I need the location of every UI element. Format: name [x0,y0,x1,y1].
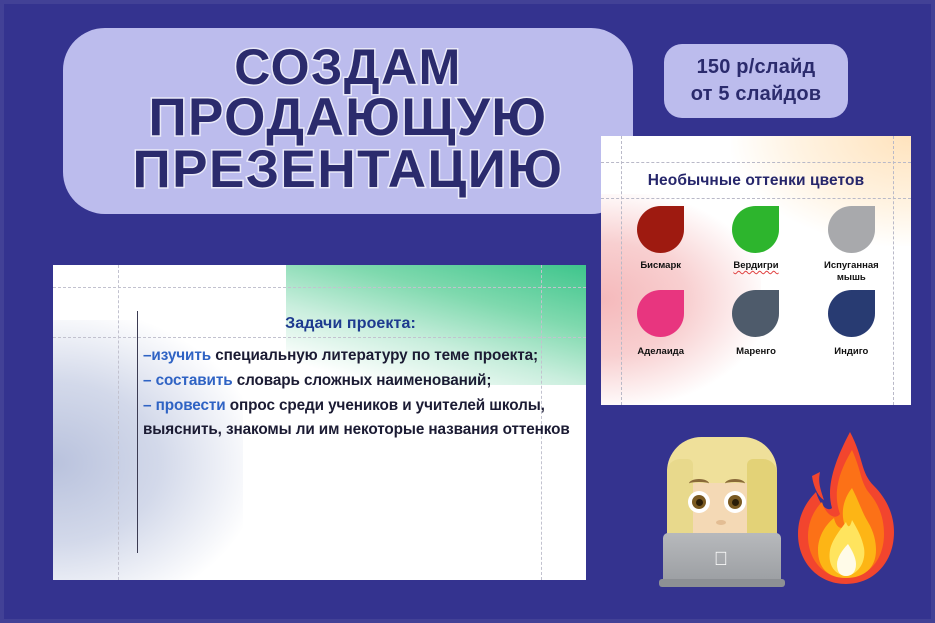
color-drop-icon [828,290,875,337]
task-rest-2: словарь сложных наименований; [233,372,492,389]
swatch-frightened-mouse: Испуганная мышь [804,206,899,284]
color-drop-icon [732,290,779,337]
panel-guide-top [53,287,586,288]
apple-logo-icon:  [713,551,729,569]
iris-right [728,495,742,509]
panel-vertical-rule [137,311,138,553]
swatch-label: Бисмарк [640,260,681,272]
task-dash-3: – [143,397,151,414]
swatch-indigo: Индиго [804,290,899,358]
swatch-label: Индиго [834,346,868,358]
laptop-base [659,579,785,587]
swatch-marengo: Маренго [708,290,803,358]
minimum-slides: от 5 слайдов [691,81,822,108]
nose [716,520,726,525]
task-dash-2: – [143,372,151,389]
title-card: СОЗДАМ ПРОДАЮЩУЮ ПРЕЗЕНТАЦИЮ [63,28,633,214]
task-highlight-2: составить [156,372,233,389]
task-item-1: –изучить специальную литературу по теме … [143,344,572,369]
color-palette-card: Необычные оттенки цветов Бисмарк Вердигр… [601,136,911,405]
swatch-adelaide: Аделаида [613,290,708,358]
tasks-body: –изучить специальную литературу по теме … [143,344,572,443]
swatch-label: Аделаида [637,346,684,358]
title-line-2: ПРОДАЮЩУЮ [148,92,547,144]
panel-guide-left [118,265,119,580]
tasks-text-panel: Задачи проекта: –изучить специальную лит… [53,265,586,580]
swatch-label: Маренго [736,346,776,358]
eyebrow-left [689,479,709,488]
palette-guide-mid [601,198,911,199]
swatch-bismarck: Бисмарк [613,206,708,284]
pupil-left [696,499,703,506]
price-per-slide: 150 р/слайд [697,54,816,81]
eye-left [688,491,710,513]
iris-left [692,495,706,509]
slide-canvas: СОЗДАМ ПРОДАЮЩУЮ ПРЕЗЕНТАЦИЮ 150 р/слайд… [0,0,935,623]
color-drop-icon [828,206,875,253]
color-drop-icon [637,290,684,337]
palette-title: Необычные оттенки цветов [601,172,911,190]
fire-emoji [790,428,902,588]
task-highlight-3: провести [156,397,226,414]
color-drop-icon [732,206,779,253]
task-highlight-1: изучить [151,347,211,364]
task-item-3: – провести опрос среди учеников и учител… [143,394,572,444]
swatch-label: Испуганная мышь [814,260,888,284]
task-rest-1: специальную литературу по теме проекта; [211,347,538,364]
task-item-2: – составить словарь сложных наименований… [143,369,572,394]
eyebrow-right [725,479,745,488]
eye-right [724,491,746,513]
price-badge: 150 р/слайд от 5 слайдов [664,44,848,118]
panel-guide-mid [53,337,586,338]
swatch-grid: Бисмарк Вердигри Испуганная мышь Аделаид… [613,206,899,358]
palette-guide-top [601,162,911,163]
color-drop-icon [637,206,684,253]
pupil-right [732,499,739,506]
tasks-heading: Задачи проекта: [137,315,564,333]
swatch-verdigris: Вердигри [708,206,803,284]
woman-peeking-over-laptop-emoji:  [663,437,781,585]
title-line-3: ПРЕЗЕНТАЦИЮ [133,144,564,196]
swatch-label: Вердигри [733,260,778,272]
title-line-1: СОЗДАМ [234,43,461,92]
